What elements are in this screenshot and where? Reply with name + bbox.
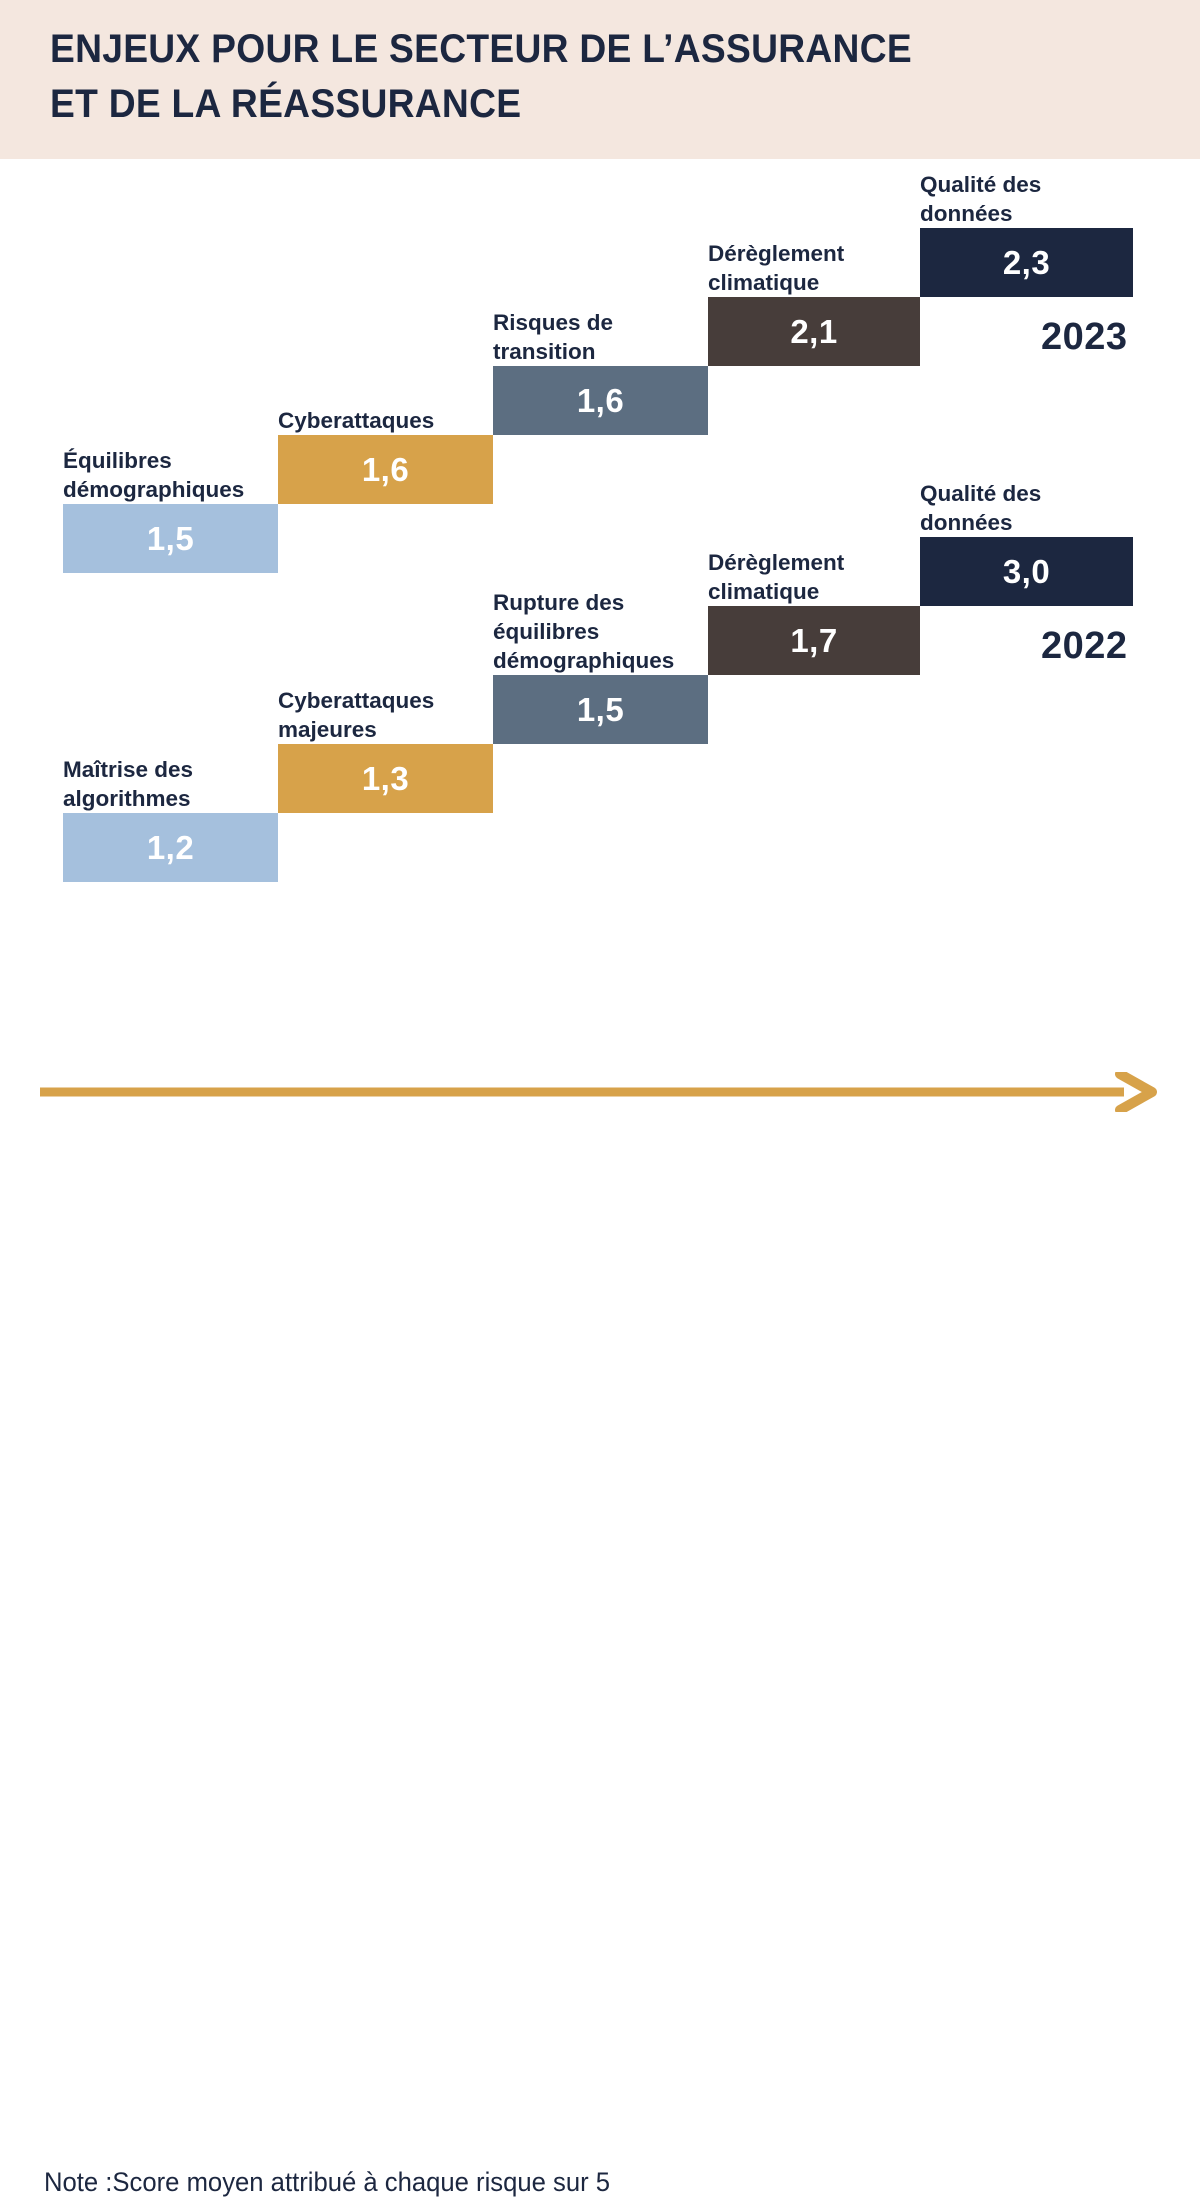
bar-label-2023-1: Cyberattaques: [278, 406, 493, 435]
staircase-chart: Équilibres démographiques 1,5 Cyberattaq…: [0, 159, 1200, 1059]
infographic-page: ENJEUX POUR LE SECTEUR DE L’ASSURANCE ET…: [0, 0, 1200, 1200]
time-axis-arrow: [38, 1072, 1158, 1112]
header-band: ENJEUX POUR LE SECTEUR DE L’ASSURANCE ET…: [0, 0, 1200, 159]
bar-value-2022-3: 1,7: [790, 624, 837, 657]
bar-2023-dereglement-climatique: 2,1: [708, 297, 920, 366]
bar-label-2023-0: Équilibres démographiques: [63, 446, 278, 504]
series-2022: Maîtrise des algorithmes 1,2 Cyberattaqu…: [0, 563, 1200, 893]
bar-value-2023-2: 1,6: [577, 384, 624, 417]
bar-label-2022-1: Cyberattaques majeures: [278, 686, 493, 744]
bar-value-2022-2: 1,5: [577, 693, 624, 726]
bar-value-2023-4: 2,3: [1003, 246, 1050, 279]
bar-2022-rupture-des-equilibres-demographiques: 1,5: [493, 675, 708, 744]
bar-label-2022-4: Qualité des données: [920, 479, 1135, 537]
bar-value-2022-1: 1,3: [362, 762, 409, 795]
bar-label-2023-3: Dérèglement climatique: [708, 239, 923, 297]
bar-2023-cyberattaques: 1,6: [278, 435, 493, 504]
chart-note: Note :Score moyen attribué à chaque risq…: [44, 2165, 610, 2199]
bar-label-2022-3: Dérèglement climatique: [708, 548, 923, 606]
bar-value-2023-3: 2,1: [790, 315, 837, 348]
bar-value-2023-1: 1,6: [362, 453, 409, 486]
bar-label-2023-2: Risques de transition: [493, 308, 708, 366]
bar-label-2022-0: Maîtrise des algorithmes: [63, 755, 278, 813]
bar-value-2022-4: 3,0: [1003, 555, 1050, 588]
rightward-arrow-icon: [38, 1072, 1158, 1112]
footer: Note :Score moyen attribué à chaque risq…: [0, 1060, 1200, 1200]
bar-2022-maitrise-des-algorithmes: 1,2: [63, 813, 278, 882]
bar-2022-qualite-des-donnees: 3,0: [920, 537, 1133, 606]
bar-label-2022-2: Rupture des équilibres démographiques: [493, 588, 703, 675]
bar-2023-qualite-des-donnees: 2,3: [920, 228, 1133, 297]
bar-2022-cyberattaques-majeures: 1,3: [278, 744, 493, 813]
year-label-2023: 2023: [1041, 318, 1128, 356]
year-label-2022: 2022: [1041, 627, 1128, 665]
bar-2022-dereglement-climatique: 1,7: [708, 606, 920, 675]
bar-value-2023-0: 1,5: [147, 522, 194, 555]
bar-value-2022-0: 1,2: [147, 831, 194, 864]
bar-2023-risques-de-transition: 1,6: [493, 366, 708, 435]
bar-label-2023-4: Qualité des données: [920, 170, 1135, 228]
page-title: ENJEUX POUR LE SECTEUR DE L’ASSURANCE ET…: [50, 22, 1073, 132]
